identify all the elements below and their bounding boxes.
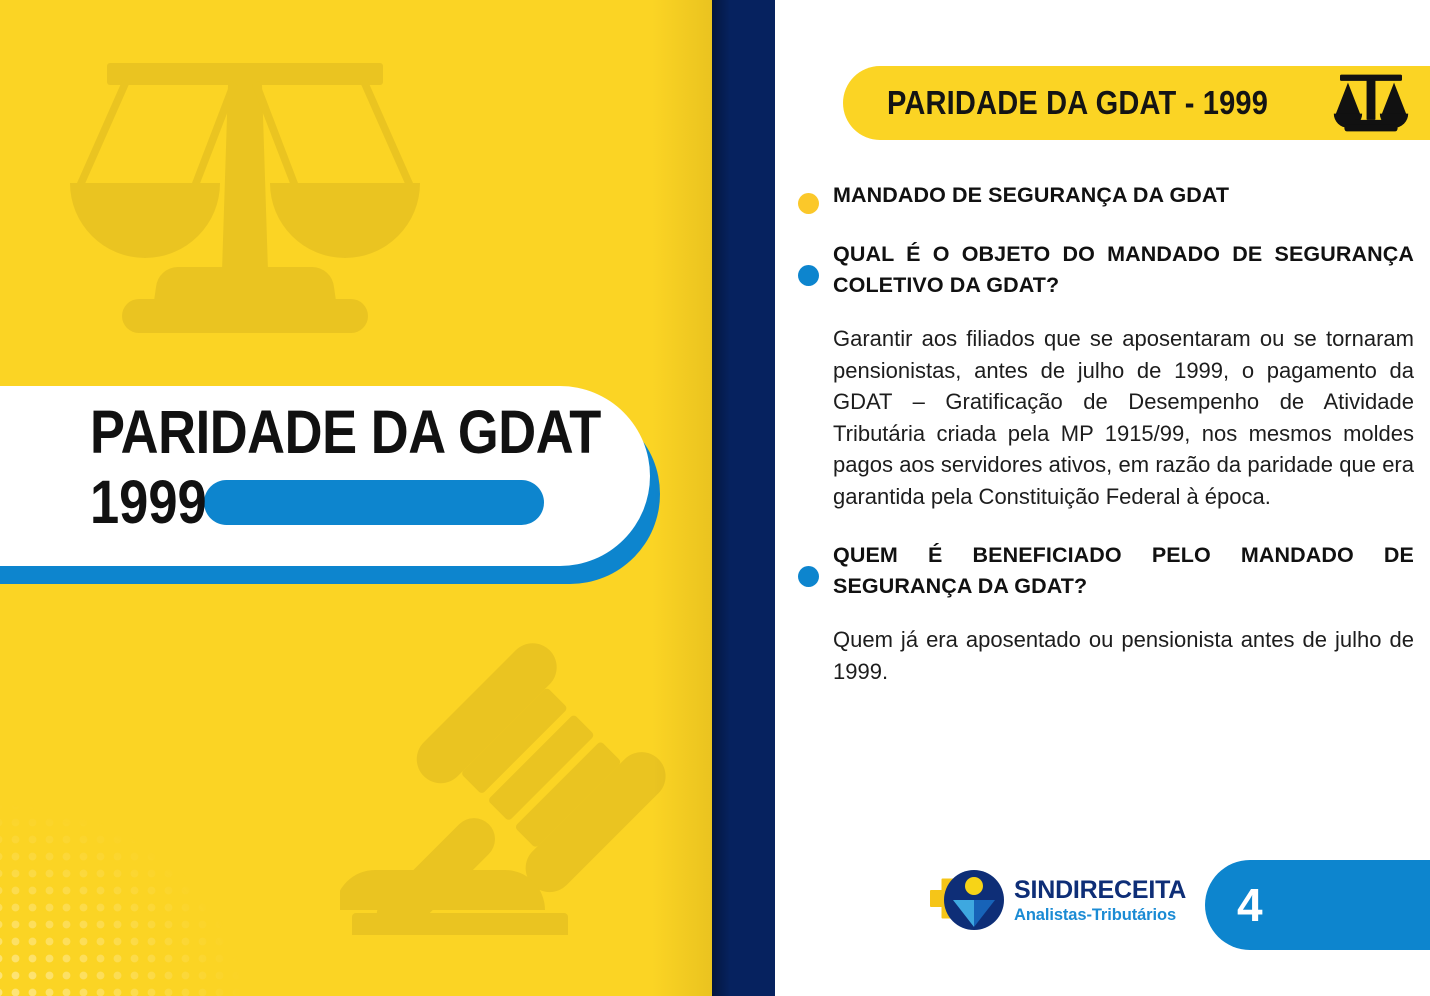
- footer: SINDIRECEITA Analistas-Tributários 4: [775, 856, 1430, 952]
- paragraph-1: Garantir aos filiados que se aposentaram…: [789, 323, 1414, 512]
- content-body: MANDADO DE SEGURANÇA DA GDAT QUAL É O OB…: [789, 180, 1414, 687]
- halftone-dot-pattern: [0, 746, 310, 996]
- spacer: [789, 512, 1414, 540]
- cover-left-panel: PARIDADE DA GDAT 1999: [0, 0, 712, 996]
- bullet-item-1: MANDADO DE SEGURANÇA DA GDAT: [789, 180, 1414, 211]
- content-right-panel: PARIDADE DA GDAT - 1999: [775, 0, 1430, 996]
- page-number-badge: 4: [1205, 860, 1430, 950]
- sindireceita-wordmark: SINDIRECEITA Analistas-Tributários: [1014, 878, 1186, 924]
- gavel-icon: [340, 625, 690, 935]
- bullet-heading-2: QUAL É O OBJETO DO MANDADO DE SEGURANÇA …: [833, 239, 1414, 301]
- cover-title-card: PARIDADE DA GDAT 1999: [0, 386, 700, 586]
- spacer: [789, 602, 1414, 624]
- scales-of-justice-icon: [1330, 72, 1412, 134]
- logo-name: SINDIRECEITA: [1014, 878, 1186, 903]
- cover-title-line1: PARIDADE DA GDAT: [90, 398, 572, 466]
- logo-tagline: Analistas-Tributários: [1014, 907, 1186, 924]
- sindireceita-logo: SINDIRECEITA Analistas-Tributários: [930, 864, 1186, 938]
- bullet-item-2: QUAL É O OBJETO DO MANDADO DE SEGURANÇA …: [789, 239, 1414, 301]
- bullet-dot-icon: [798, 193, 819, 214]
- paragraph-2: Quem já era aposentado ou pensionista an…: [789, 624, 1414, 687]
- bullet-dot-icon: [798, 566, 819, 587]
- bullet-heading-3: QUEM É BENEFICIADO PELO MANDADO DE SEGUR…: [833, 540, 1414, 602]
- bullet-dot-icon: [798, 265, 819, 286]
- sindireceita-logo-icon: [930, 864, 1004, 938]
- bullet-heading-1: MANDADO DE SEGURANÇA DA GDAT: [833, 180, 1414, 211]
- navy-divider-shadow: [712, 0, 730, 996]
- scales-of-justice-icon: [60, 55, 430, 345]
- slide-page: PARIDADE DA GDAT 1999 PARIDADE DA GDAT -…: [0, 0, 1430, 996]
- navy-divider-strip: [712, 0, 775, 996]
- title-accent-bar: [204, 480, 544, 525]
- header-badge: PARIDADE DA GDAT - 1999: [843, 66, 1430, 140]
- page-number: 4: [1237, 878, 1262, 932]
- spacer: [789, 211, 1414, 239]
- bullet-item-3: QUEM É BENEFICIADO PELO MANDADO DE SEGUR…: [789, 540, 1414, 602]
- cover-title-line2: 1999: [90, 468, 207, 536]
- spacer: [789, 301, 1414, 323]
- title-text-block: PARIDADE DA GDAT 1999: [90, 398, 650, 536]
- header-badge-label: PARIDADE DA GDAT - 1999: [887, 84, 1268, 122]
